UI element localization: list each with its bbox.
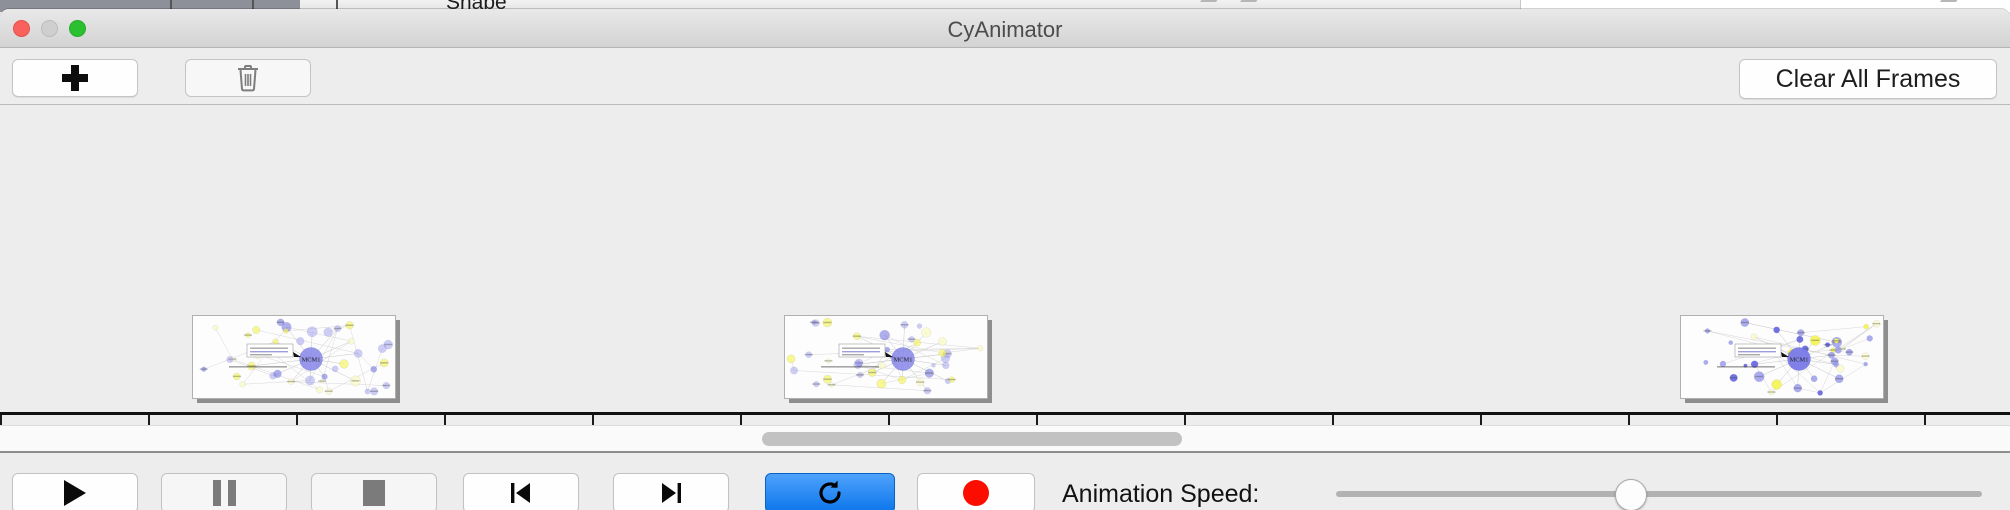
loop-icon <box>816 479 844 507</box>
network-diagram: MCM1 <box>193 316 395 398</box>
frame-image: MCM1 <box>192 315 396 399</box>
timeline-tick-11 <box>1628 415 1630 425</box>
svg-text:MCM1: MCM1 <box>302 356 321 363</box>
timeline-tick-1 <box>148 415 150 425</box>
skip-back-icon <box>508 480 534 506</box>
frame-thumbnail[interactable]: MCM1 <box>1680 315 1888 403</box>
stop-icon <box>363 480 385 506</box>
clear-all-frames-button[interactable]: Clear All Frames <box>1739 59 1997 99</box>
network-diagram: MCM1 <box>1681 316 1883 398</box>
timeline-tick-2 <box>296 415 298 425</box>
skip-forward-icon <box>658 480 684 506</box>
svg-text:MCM1: MCM1 <box>1790 356 1809 363</box>
timeline-tick-3 <box>444 415 446 425</box>
timeline-tick-12 <box>1776 415 1778 425</box>
frame-thumbnail[interactable]: MCM1 <box>784 315 992 403</box>
timeline-tick-6 <box>888 415 890 425</box>
frame-image: MCM1 <box>784 315 988 399</box>
cyanimator-window: CyAnimator Clear All Frames MCM1MCM1MCM1… <box>0 9 2010 510</box>
stop-button[interactable] <box>311 473 437 510</box>
timeline-scrollbar[interactable] <box>0 425 2010 453</box>
clear-all-frames-label: Clear All Frames <box>1776 65 1961 94</box>
timeline-tick-4 <box>592 415 594 425</box>
animation-speed-slider-knob[interactable] <box>1615 479 1647 510</box>
frame-toolbar: Clear All Frames <box>0 48 2010 105</box>
frame-image: MCM1 <box>1680 315 1884 399</box>
playback-controls-bar: Animation Speed: <box>0 453 2010 510</box>
timeline-panel[interactable]: MCM1MCM1MCM1 12131415161718 Seconds <box>0 105 2010 425</box>
trash-icon <box>236 64 260 92</box>
play-button[interactable] <box>12 473 138 510</box>
svg-text:MCM1: MCM1 <box>894 356 913 363</box>
previous-button[interactable] <box>463 473 579 510</box>
window-titlebar[interactable]: CyAnimator <box>0 9 2010 48</box>
timeline-axis-line <box>0 412 2010 415</box>
record-icon <box>963 480 989 506</box>
plus-icon <box>62 65 88 91</box>
animation-speed-slider-track[interactable] <box>1336 491 1982 497</box>
record-button[interactable] <box>917 473 1035 510</box>
timeline-tick-13 <box>1924 415 1926 425</box>
loop-button[interactable] <box>765 473 895 510</box>
timeline-tick-5 <box>740 415 742 425</box>
play-icon <box>64 480 86 506</box>
pause-button[interactable] <box>161 473 287 510</box>
timeline-tick-8 <box>1184 415 1186 425</box>
timeline-tick-0 <box>0 415 2 425</box>
pause-icon <box>213 480 236 506</box>
next-button[interactable] <box>613 473 729 510</box>
timeline-tick-9 <box>1332 415 1334 425</box>
frame-thumbnail[interactable]: MCM1 <box>192 315 400 403</box>
timeline-tick-7 <box>1036 415 1038 425</box>
timeline-tick-10 <box>1480 415 1482 425</box>
animation-speed-label: Animation Speed: <box>1062 480 1259 509</box>
network-diagram: MCM1 <box>785 316 987 398</box>
delete-frame-button[interactable] <box>185 59 311 97</box>
window-title: CyAnimator <box>0 17 2010 43</box>
add-frame-button[interactable] <box>12 59 138 97</box>
timeline-scrollbar-thumb[interactable] <box>762 432 1182 446</box>
